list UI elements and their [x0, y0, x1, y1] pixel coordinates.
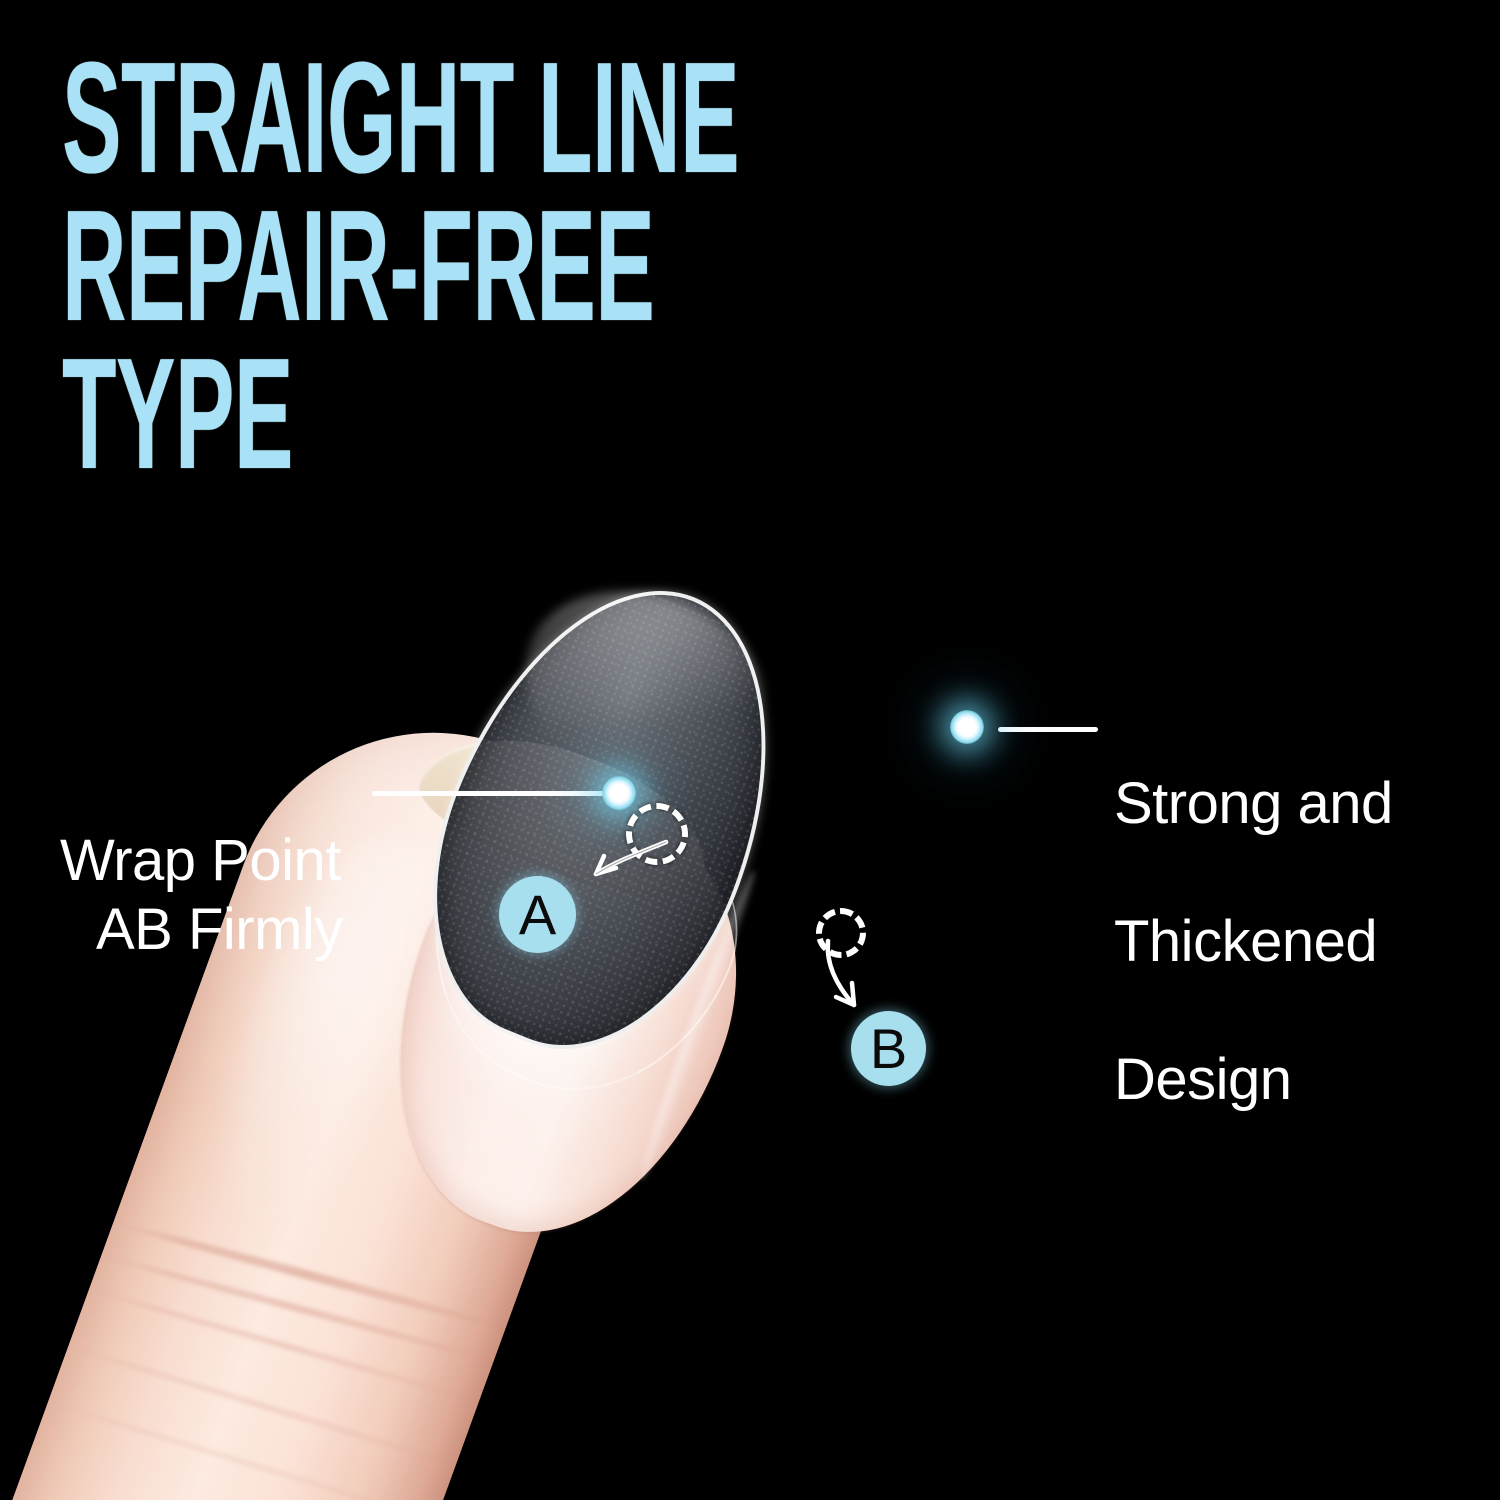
annotation-strong-thickened-line3: Design: [1114, 1045, 1500, 1114]
knuckle-crease: [68, 1344, 457, 1468]
badge-point-b-label: B: [870, 1021, 907, 1077]
badge-point-a-label: A: [519, 887, 556, 943]
leader-line-wrap-point: [372, 791, 604, 796]
annotation-strong-thickened-line2: Thickened: [1114, 907, 1500, 976]
knuckle-crease: [47, 1400, 436, 1500]
annotation-wrap-point: Wrap Point AB Firmly: [60, 757, 580, 1033]
dashed-circle-b-icon: [816, 908, 866, 958]
dashed-circle-a-icon: [626, 803, 688, 865]
callout-dot-wrap-point: [602, 776, 636, 810]
annotation-strong-thickened: Strong and Thickened Design: [1114, 700, 1500, 1183]
page-title: STRAIGHT LINE REPAIR-FREE TYPE: [62, 44, 853, 488]
badge-point-a: A: [499, 876, 576, 953]
annotation-strong-thickened-line1: Strong and: [1114, 769, 1500, 838]
infographic-canvas: STRAIGHT LINE REPAIR-FREE TYPE Wrap Poin…: [0, 0, 1500, 1500]
callout-dot-strong-thickened: [950, 710, 984, 744]
leader-line-strong-thickened: [998, 727, 1098, 732]
badge-point-b: B: [851, 1011, 926, 1086]
annotation-wrap-point-line1: Wrap Point: [60, 828, 341, 893]
